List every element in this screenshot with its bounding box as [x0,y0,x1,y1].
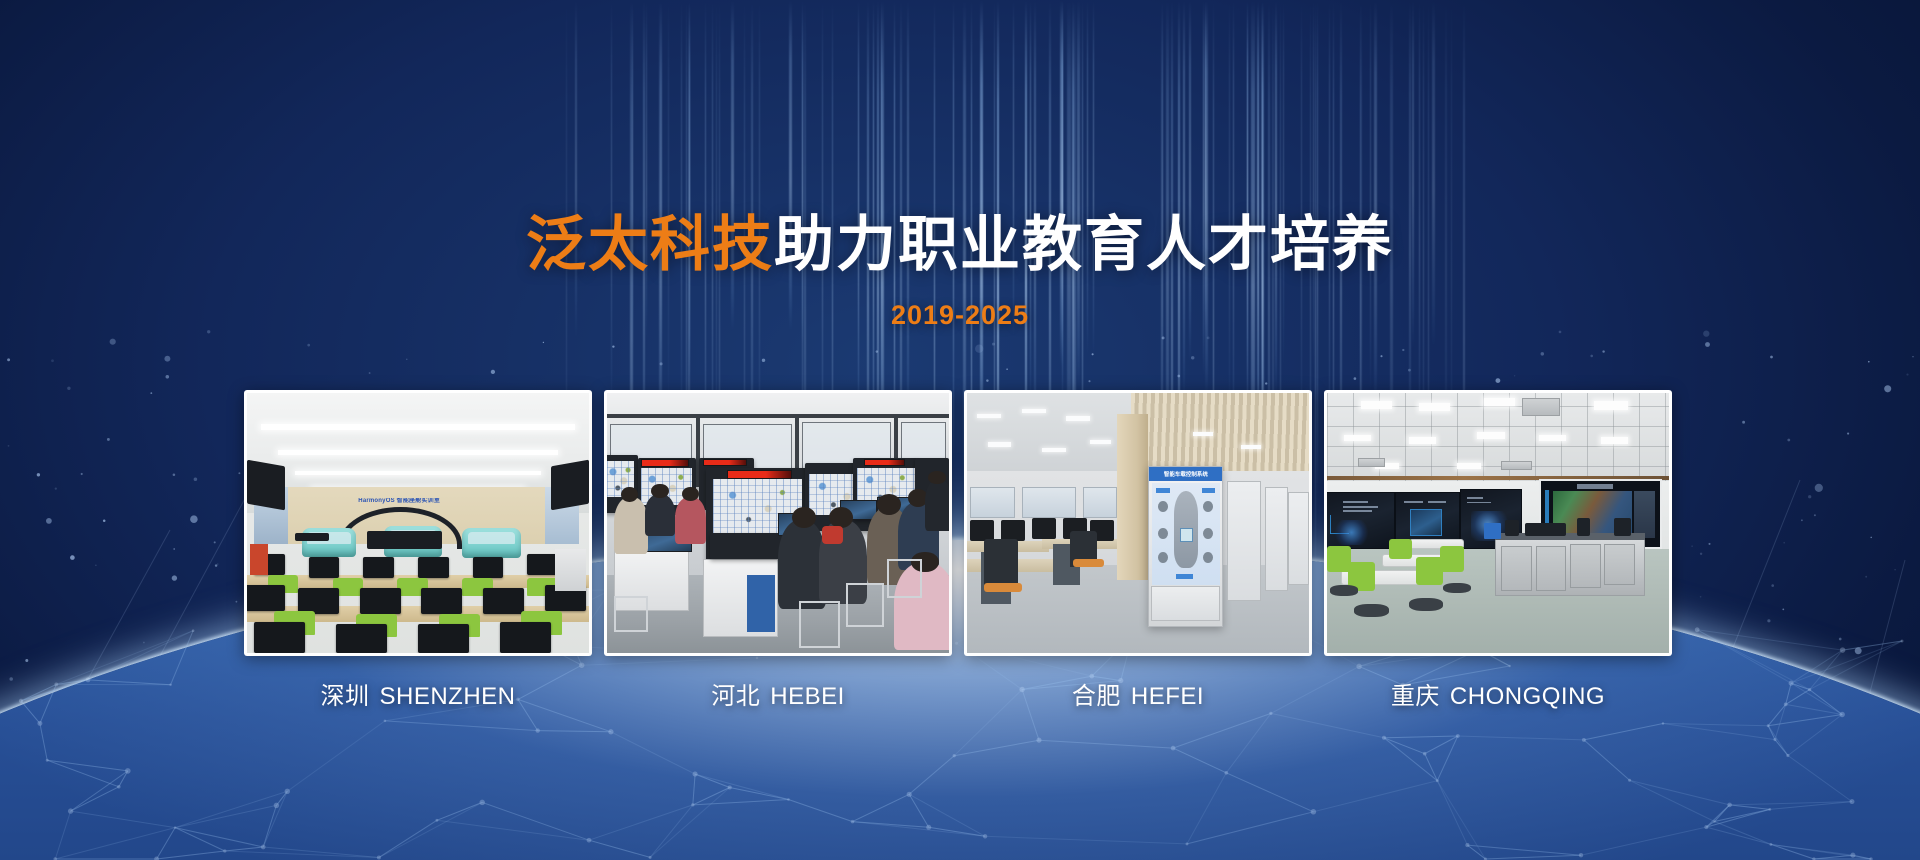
label-shenzhen-en: SHENZHEN [379,683,515,710]
page-title: 泛太科技助力职业教育人才培养 [0,196,1920,283]
headline-brand: 泛太科技 [526,211,774,278]
photo-chongqing-lab [1327,393,1669,653]
label-chongqing: 重庆CHONGQING [1324,676,1672,716]
photo-shenzhen-classroom: HarmonyOS 智能座舱实训室 [247,393,589,653]
label-hefei-cn: 合肥 [1072,683,1121,710]
photo-card-row: HarmonyOS 智能座舱实训室 [244,390,1672,656]
photo-banner-text-hefei: 智能车载控制系统 [1149,467,1222,481]
promo-banner: 泛太科技助力职业教育人才培养 2019-2025 HarmonyOS 智能座舱实… [0,0,1920,860]
label-hefei: 合肥HEFEI [964,676,1312,716]
label-shenzhen: 深圳SHENZHEN [244,676,592,716]
label-hebei-cn: 河北 [711,683,760,710]
photo-card-hefei[interactable]: 智能车载控制系统 [964,390,1312,656]
photo-label-row: 深圳SHENZHEN 河北HEBEI 合肥HEFEI 重庆CHONGQING [244,676,1672,716]
subtitle-years: 2019-2025 [0,300,1920,331]
label-hebei-en: HEBEI [770,683,845,710]
label-hefei-en: HEFEI [1131,683,1204,710]
label-hebei: 河北HEBEI [604,676,952,716]
headline-rest: 助力职业教育人才培养 [774,211,1394,278]
label-shenzhen-cn: 深圳 [320,683,369,710]
photo-card-hebei[interactable] [604,390,952,656]
label-chongqing-en: CHONGQING [1450,683,1605,710]
photo-hefei-lab: 智能车载控制系统 [967,393,1309,653]
photo-card-chongqing[interactable] [1324,390,1672,656]
label-chongqing-cn: 重庆 [1391,683,1440,710]
photo-hebei-lab [607,393,949,653]
photo-card-shenzhen[interactable]: HarmonyOS 智能座舱实训室 [244,390,592,656]
